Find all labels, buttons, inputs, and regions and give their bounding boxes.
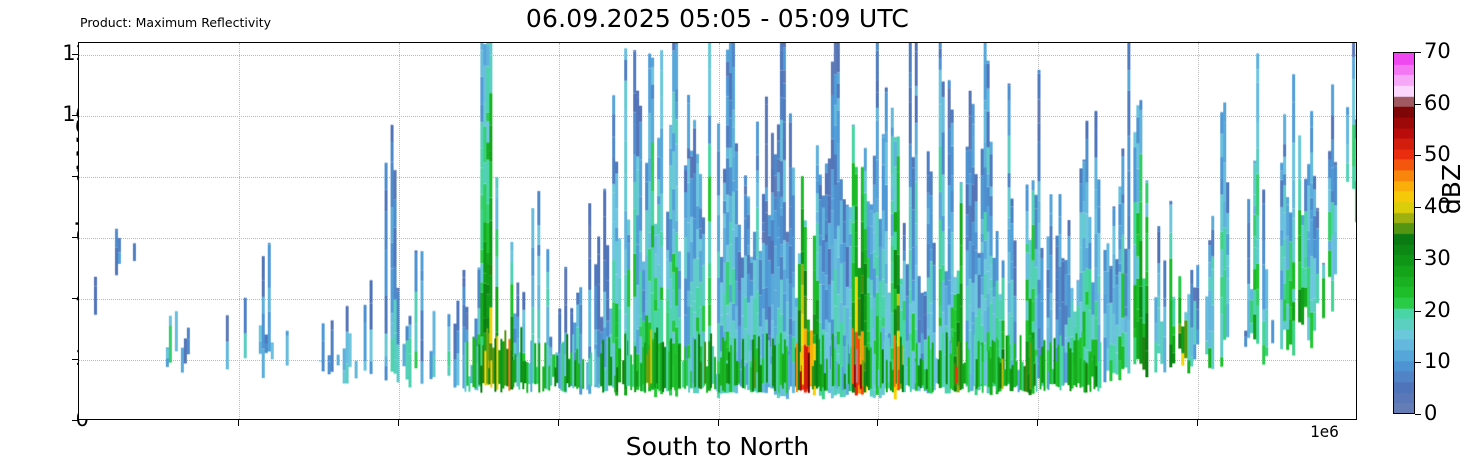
colorbar-tick-mark xyxy=(1415,414,1421,415)
x-tick-mark xyxy=(558,420,559,426)
colorbar-tick-mark xyxy=(1415,311,1421,312)
colorbar-label: dBZ xyxy=(1438,129,1466,249)
page-title: 06.09.2025 05:05 - 05:09 UTC xyxy=(78,4,1357,34)
colorbar-tick-label: 30 xyxy=(1424,248,1451,269)
colorbar-tick-label: 20 xyxy=(1424,300,1451,321)
radar-cross-section-figure: Product: Maximum Reflectivity 06.09.2025… xyxy=(0,0,1482,470)
colorbar xyxy=(1393,52,1415,414)
colorbar-tick-label: 60 xyxy=(1424,93,1451,114)
x-tick-mark xyxy=(1197,420,1198,426)
colorbar-gradient xyxy=(1394,53,1414,413)
plot-area xyxy=(78,42,1357,420)
colorbar-tick-label: 0 xyxy=(1424,403,1437,424)
colorbar-tick-label: 10 xyxy=(1424,351,1451,372)
colorbar-tick-mark xyxy=(1415,207,1421,208)
colorbar-tick-mark xyxy=(1415,52,1421,53)
x-tick-mark xyxy=(718,420,719,426)
colorbar-tick-mark xyxy=(1415,104,1421,105)
reflectivity-heatmap xyxy=(79,43,1356,419)
y-tick-mark xyxy=(72,420,78,421)
colorbar-tick-mark xyxy=(1415,259,1421,260)
colorbar-tick-mark xyxy=(1415,155,1421,156)
colorbar-tick-label: 70 xyxy=(1424,41,1451,62)
x-tick-mark xyxy=(1037,420,1038,426)
x-tick-mark xyxy=(398,420,399,426)
x-axis-offset-text: 1e6 xyxy=(1310,423,1339,441)
x-axis-label: South to North xyxy=(78,433,1357,461)
colorbar-tick-mark xyxy=(1415,362,1421,363)
x-tick-mark xyxy=(238,420,239,426)
x-tick-mark xyxy=(877,420,878,426)
